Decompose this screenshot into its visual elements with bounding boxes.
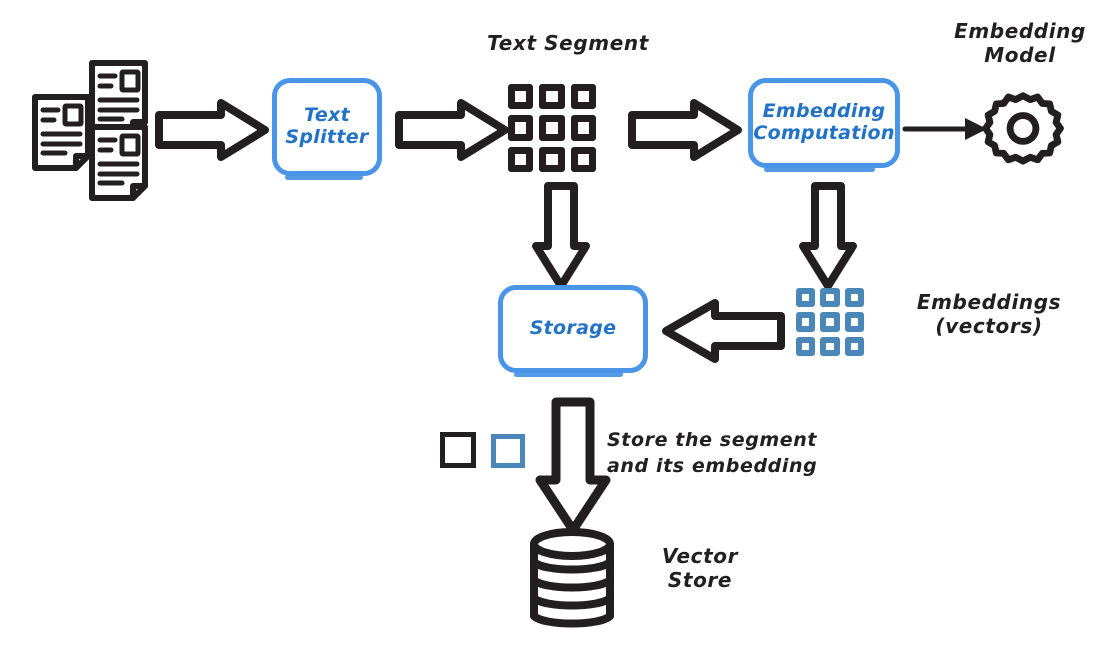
document-stack-icon xyxy=(26,52,166,202)
segment-cell xyxy=(539,147,564,172)
box-underline-accent xyxy=(764,167,875,172)
label-vector-store: Vector Store xyxy=(630,545,770,592)
label-embeddings-vectors: Embeddings (vectors) xyxy=(884,291,1094,338)
segment-cell xyxy=(508,84,533,109)
arrow-segments-to-storage xyxy=(528,182,594,292)
embedding-cell xyxy=(820,337,839,356)
embedding-cell xyxy=(845,337,864,356)
label-text-segment: Text Segment xyxy=(443,32,693,56)
legend-swatch-segment xyxy=(440,432,476,468)
arrow-docs-to-splitter xyxy=(155,97,270,163)
embedding-cell xyxy=(845,288,864,307)
segment-cell xyxy=(571,115,596,140)
label-embedding-model: Embedding Model xyxy=(940,20,1100,67)
segment-cell xyxy=(539,84,564,109)
embedding-cell xyxy=(845,312,864,331)
arrow-segments-to-embedding xyxy=(628,97,743,163)
box-text-splitter[interactable]: Text Splitter xyxy=(272,78,382,176)
gear-icon xyxy=(980,88,1066,174)
embedding-cell xyxy=(796,288,815,307)
label-store-note: Store the segment and its embedding xyxy=(607,428,867,479)
legend-swatch-embedding xyxy=(491,434,525,468)
arrow-vectors-to-storage xyxy=(660,296,785,366)
segment-cell xyxy=(539,115,564,140)
box-underline-accent xyxy=(514,372,623,377)
box-embedding-computation[interactable]: Embedding Computation xyxy=(748,78,900,168)
arrow-storage-to-vectorstore xyxy=(530,398,616,538)
segment-cell xyxy=(508,115,533,140)
embedding-cell xyxy=(796,312,815,331)
embedding-cell xyxy=(820,312,839,331)
box-underline-accent xyxy=(285,175,363,180)
arrow-splitter-to-segments xyxy=(395,97,510,163)
embedding-cell xyxy=(820,288,839,307)
arrow-embedding-to-model xyxy=(903,112,989,146)
embedding-vector-grid-icon xyxy=(796,288,864,356)
embedding-cell xyxy=(796,337,815,356)
box-embedding-computation-label: Embedding Computation xyxy=(753,101,894,145)
segment-cell xyxy=(508,147,533,172)
segment-cell xyxy=(571,147,596,172)
box-storage-label: Storage xyxy=(530,318,617,340)
arrow-embedding-to-vectors xyxy=(795,182,861,292)
diagram-canvas: Text Splitter Text Segment Embedding Com… xyxy=(0,0,1100,650)
segment-cell xyxy=(571,84,596,109)
box-storage[interactable]: Storage xyxy=(498,285,648,373)
box-text-splitter-label: Text Splitter xyxy=(285,105,368,149)
database-cylinder-icon xyxy=(522,528,622,632)
text-segment-grid-icon xyxy=(508,84,596,172)
